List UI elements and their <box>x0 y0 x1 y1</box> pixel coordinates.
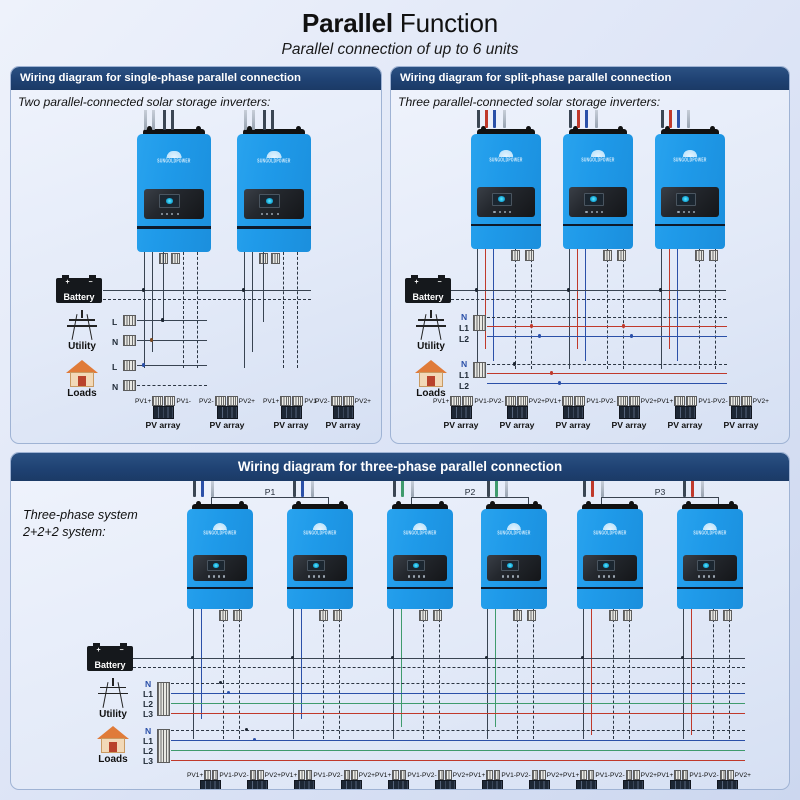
pv-array-label: PV array <box>433 420 489 430</box>
inverter-terminal-stub <box>505 481 508 497</box>
terminal-block-utility-L <box>123 315 136 326</box>
battery-source: +− Battery <box>405 278 457 303</box>
inverter-lcd-panel <box>683 555 737 581</box>
dashed-riser <box>713 609 714 739</box>
pv-panel-icon <box>153 406 174 419</box>
pv-terminal-label-positive: PV2+ <box>239 398 255 405</box>
inverter-buttons[interactable] <box>677 211 700 213</box>
battery-polarity: +− <box>87 647 133 654</box>
inverter-buttons[interactable] <box>408 575 430 577</box>
phase-group-bracket-P1: P1 <box>211 497 329 504</box>
inverter-terminal-stub <box>583 481 586 497</box>
pv-terminal-row: PV2- PV2+ <box>713 396 769 406</box>
pv-terminal-label-negative: PV1- <box>501 772 516 779</box>
wire-vertical <box>661 249 662 369</box>
inverter-terminal-stub <box>477 110 480 128</box>
pv-array-label: PV array <box>545 420 601 430</box>
inverter-bottom-band <box>287 587 353 589</box>
wire-vertical-L2 <box>585 249 586 361</box>
pv-terminal-row: PV1+PV1- <box>563 770 610 780</box>
inverter-buttons[interactable] <box>585 211 608 213</box>
phase-group-bracket-P2: P2 <box>411 497 529 504</box>
pv-terminal-row: PV2-PV2+ <box>516 770 563 780</box>
panel-three-phase: Wiring diagram for three-phase parallel … <box>10 452 790 790</box>
inverter-terminal-stub <box>601 481 604 497</box>
loads-L2-wire <box>487 383 727 384</box>
inverter-buttons[interactable] <box>261 213 285 215</box>
phase-label-loads-N: N <box>461 360 467 369</box>
inverter-terminal-stub <box>687 110 690 128</box>
door-shape <box>78 376 86 386</box>
panel-split-phase-caption: Three parallel-connected solar storage i… <box>391 90 789 110</box>
terminal-block <box>723 610 732 621</box>
phase-label-loads-L1: L1 <box>143 737 153 746</box>
pv-array-group-12: PV2-PV2+PV array <box>704 770 751 790</box>
pv-panel-icon <box>482 780 503 790</box>
terminal-block <box>603 250 612 261</box>
inverter-brand: SUNGOLDPOWER <box>587 530 633 536</box>
terminal-block <box>617 250 626 261</box>
inverter-logo: SUNGOLDPOWER <box>687 523 733 535</box>
dashed-riser <box>323 609 324 739</box>
pv-terminal-label-positive: PV1+ <box>657 398 673 405</box>
pv-terminal-label-positive: PV1+ <box>135 398 151 405</box>
pv-terminal-label-negative: PV2- <box>422 772 437 779</box>
inverter-terminal-stub <box>411 481 414 497</box>
pv-terminal-block <box>351 770 358 780</box>
wire-vertical <box>569 249 570 369</box>
inverter-terminal-stub <box>301 481 304 497</box>
inverter-terminal-stub <box>171 110 174 130</box>
pv-terminal-block <box>250 770 257 780</box>
inverter-2: SUNGOLDPOWER <box>237 134 311 252</box>
inverter-terminal-stub <box>152 110 155 130</box>
terminal-block <box>333 610 342 621</box>
pv-terminal-row: PV2-PV2+ <box>422 770 469 780</box>
phase-label-utility-L: L <box>112 318 117 327</box>
inverter-logo: SUNGOLDPOWER <box>297 523 343 535</box>
utility-label: Utility <box>87 709 139 720</box>
pv-terminal-block <box>462 396 473 406</box>
utility-source: Utility <box>87 678 139 720</box>
battery-icon: +− Battery <box>87 646 133 671</box>
house-icon <box>415 360 447 387</box>
sun-arc-icon <box>266 151 282 158</box>
inverter-lcd-panel <box>144 189 205 220</box>
dashed-riser <box>223 609 224 739</box>
loads-L1-wire <box>171 740 745 741</box>
panel-split-phase: Wiring diagram for split-phase parallel … <box>390 66 790 444</box>
panel-single-phase: Wiring diagram for single-phase parallel… <box>10 66 382 444</box>
pv-panel-icon <box>388 780 409 790</box>
pv-array-group-10: PV2-PV2+PV array <box>610 770 657 790</box>
wire-vertical <box>583 609 584 739</box>
pv-terminal-label-negative: PV2- <box>315 398 330 405</box>
pv-array-label: PV array <box>131 420 195 430</box>
battery-bus-negative <box>451 299 726 300</box>
wire-vertical <box>193 609 194 739</box>
terminal-block <box>319 610 328 621</box>
pv-panel-icon <box>619 406 640 419</box>
pv-terminal-label-negative: PV2- <box>610 772 625 779</box>
phase-label-utility-N: N <box>112 338 118 347</box>
inverter-1: SUNGOLDPOWER <box>187 509 253 609</box>
inverter-screen <box>307 560 325 571</box>
inverter-brand: SUNGOLDPOWER <box>491 530 537 536</box>
inverter-bottom-band <box>187 587 253 589</box>
pv-terminal-row: PV2- PV2+ <box>195 396 259 406</box>
inverter-brand: SUNGOLDPOWER <box>666 157 715 163</box>
inverter-logo: SUNGOLDPOWER <box>197 523 243 535</box>
pv-terminal-row: PV2- PV2+ <box>601 396 657 406</box>
phase-label-utility-L2: L2 <box>143 700 153 709</box>
inverter-screen <box>697 560 715 571</box>
inverter-lcd-panel <box>393 555 447 581</box>
phase-label-utility-L2: L2 <box>459 335 469 344</box>
pv-terminal-block <box>617 396 628 406</box>
pv-terminal-label-negative: PV2- <box>489 398 504 405</box>
phase-label-loads-L2: L2 <box>143 747 153 756</box>
pv-panel-icon <box>217 406 238 419</box>
pv-terminal-block <box>588 770 595 780</box>
dashed-riser <box>439 609 440 739</box>
pv-terminal-block <box>280 396 291 406</box>
pv-terminal-block <box>204 770 211 780</box>
inverter-buttons[interactable] <box>161 213 185 215</box>
pv-terminal-label-positive: PV2+ <box>735 772 751 779</box>
wire-vertical <box>683 609 684 739</box>
pv-array-group-4: PV2- PV2+ PV array <box>311 396 375 430</box>
pv-terminal-block <box>298 770 305 780</box>
wire-vertical <box>144 252 145 368</box>
inverter-bottom-band <box>237 226 311 228</box>
pv-panel-icon <box>507 406 528 419</box>
inverter-terminal-stub <box>701 481 704 497</box>
pv-terminal-block <box>741 396 752 406</box>
pv-terminal-label-positive: PV2+ <box>641 772 657 779</box>
inverter-5: SUNGOLDPOWER <box>577 509 643 609</box>
inverter-bottom-band <box>481 587 547 589</box>
inverter-buttons[interactable] <box>493 211 516 213</box>
wire-vertical <box>163 252 164 322</box>
inverter-buttons[interactable] <box>308 575 330 577</box>
terminal-block <box>695 250 704 261</box>
pv-array-group-2: PV2- PV2+ PV array <box>489 396 545 430</box>
phase-group-bracket-P3: P3 <box>601 497 719 504</box>
dashed-riser <box>729 609 730 739</box>
dashed-riser <box>183 252 184 368</box>
pv-terminal-block <box>674 396 685 406</box>
inverter-brand: SUNGOLDPOWER <box>687 530 733 536</box>
inverter-terminal-stub <box>485 110 488 128</box>
terminal-block <box>271 253 280 264</box>
loads-N-wire <box>137 385 207 386</box>
wire-vertical <box>293 609 294 739</box>
panel-single-phase-header: Wiring diagram for single-phase parallel… <box>11 67 381 90</box>
pv-terminal-block <box>331 396 342 406</box>
door-shape <box>427 376 435 386</box>
pv-terminal-block <box>682 770 689 780</box>
phase-label-loads-L2: L2 <box>459 382 469 391</box>
pv-terminal-block <box>580 770 587 780</box>
inverter-terminal-stub <box>263 110 266 130</box>
pv-array-label: PV array <box>311 420 375 430</box>
pv-terminal-block <box>343 396 354 406</box>
three-phase-stage: Three-phase system 2+2+2 system: P1 P2 P… <box>11 481 789 790</box>
utility-label: Utility <box>56 341 108 352</box>
pv-terminal-block <box>686 396 697 406</box>
inverter-bottom-band <box>655 224 725 226</box>
pv-terminal-block <box>539 770 546 780</box>
terminal-block <box>609 610 618 621</box>
inverter-1: SUNGOLDPOWER <box>471 134 541 249</box>
dashed-riser <box>423 609 424 739</box>
pv-panel-icon <box>247 780 268 790</box>
pv-terminal-row: PV1+ PV1- <box>657 396 713 406</box>
sun-arc-icon <box>166 151 182 158</box>
utility-L-wire <box>137 320 207 321</box>
parallel-function-infographic: Parallel Function Parallel connection of… <box>0 0 800 800</box>
pv-terminal-block <box>532 770 539 780</box>
pv-terminal-label-positive: PV1+ <box>657 772 673 779</box>
inverter-lcd-panel <box>661 187 718 217</box>
wire-vertical <box>152 252 153 352</box>
wall-shape <box>419 372 443 387</box>
terminal-block <box>233 610 242 621</box>
terminal-block-loads-L <box>123 360 136 371</box>
pv-terminal-block <box>292 396 303 406</box>
loads-L-wire <box>137 365 207 366</box>
wire-vertical-L2 <box>495 609 496 727</box>
inverter-terminal-stub <box>193 481 196 497</box>
utility-label: Utility <box>405 341 457 352</box>
inverter-lcd-panel <box>487 555 541 581</box>
battery-label: Battery <box>405 292 451 302</box>
inverter-lcd-panel <box>583 555 637 581</box>
pv-array-group-5: PV1+PV1-PV array <box>375 770 422 790</box>
battery-icon: +− Battery <box>56 278 102 303</box>
inverter-screen <box>584 193 604 206</box>
phase-label-utility-L1: L1 <box>143 690 153 699</box>
pv-array-label: PV array <box>601 420 657 430</box>
inverter-terminal-stub <box>163 110 166 130</box>
pv-terminal-block <box>494 770 501 780</box>
inverter-terminal-stub <box>244 110 247 130</box>
phase-label-utility-L1: L1 <box>459 324 469 333</box>
inverter-lcd-panel <box>569 187 626 217</box>
inverter-brand: SUNGOLDPOWER <box>197 530 243 536</box>
battery-label: Battery <box>87 660 133 670</box>
terminal-block <box>623 610 632 621</box>
phase-label-loads-N: N <box>112 383 118 392</box>
pv-terminal-row: PV1+PV1- <box>657 770 704 780</box>
loads-source: Loads <box>56 360 108 399</box>
terminal-block-loads-N <box>123 380 136 391</box>
pv-terminal-block <box>674 770 681 780</box>
terminal-block-loads <box>473 362 486 378</box>
battery-source: +− Battery <box>56 278 108 303</box>
pv-panel-icon <box>675 406 696 419</box>
inverter-terminal-stub <box>691 481 694 497</box>
page-title: Parallel Function <box>0 0 800 39</box>
utility-tower-icon <box>65 310 99 340</box>
loads-N-wire <box>487 364 727 365</box>
battery-label: Battery <box>56 292 102 302</box>
pv-terminal-block <box>626 770 633 780</box>
pv-array-label: PV array <box>489 420 545 430</box>
three-phase-caption-line2: 2+2+2 system: <box>23 524 138 541</box>
pv-terminal-label-negative: PV1- <box>219 772 234 779</box>
pv-panel-icon <box>623 780 644 790</box>
pv-panel-icon <box>670 780 691 790</box>
wall-shape <box>101 738 125 753</box>
dashed-riser <box>533 609 534 739</box>
pv-terminal-label-negative: PV1- <box>407 772 422 779</box>
panel-single-phase-caption: Two parallel-connected solar storage inv… <box>11 90 381 110</box>
inverter-logo: SUNGOLDPOWER <box>587 523 633 535</box>
loads-L2-wire <box>171 750 745 751</box>
inverter-terminal-stub <box>591 481 594 497</box>
pv-terminal-label-positive: PV2+ <box>355 398 371 405</box>
dashed-riser <box>297 252 298 368</box>
inverter-screen <box>597 560 615 571</box>
utility-L1-wire <box>171 693 745 694</box>
dashed-riser <box>699 249 700 369</box>
pv-terminal-label-positive: PV2+ <box>265 772 281 779</box>
pv-terminal-row: PV1+PV1- <box>375 770 422 780</box>
inverter-buttons[interactable] <box>208 575 230 577</box>
inverter-logo: SUNGOLDPOWER <box>248 151 300 163</box>
phase-label-loads-N: N <box>145 727 151 736</box>
inverter-1: SUNGOLDPOWER <box>137 134 211 252</box>
pv-terminal-block <box>517 396 528 406</box>
loads-label: Loads <box>87 754 139 765</box>
three-phase-caption: Three-phase system 2+2+2 system: <box>23 507 138 541</box>
inverter-screen <box>492 193 512 206</box>
pv-terminal-label-positive: PV1+ <box>469 772 485 779</box>
pv-terminal-label-positive: PV1+ <box>187 772 203 779</box>
loads-source: Loads <box>87 726 139 765</box>
pv-terminal-label-positive: PV1+ <box>433 398 449 405</box>
inverter-terminal-stub <box>144 110 147 130</box>
pv-terminal-label-negative: PV1- <box>313 772 328 779</box>
inverter-4: SUNGOLDPOWER <box>481 509 547 609</box>
pv-terminal-block <box>306 770 313 780</box>
terminal-block-utility <box>157 682 170 716</box>
wire-vertical <box>244 252 245 368</box>
pv-terminal-label-positive: PV2+ <box>641 398 657 405</box>
pv-terminal-label-negative: PV1- <box>176 398 191 405</box>
inverter-terminal-stub <box>585 110 588 128</box>
terminal-block-utility <box>473 315 486 331</box>
pv-terminal-block <box>215 396 226 406</box>
inverter-terminal-stub <box>211 481 214 497</box>
dashed-riser <box>515 249 516 369</box>
pv-array-group-8: PV2-PV2+PV array <box>516 770 563 790</box>
inverter-brand: SUNGOLDPOWER <box>248 158 300 164</box>
pv-array-group-6: PV2-PV2+PV array <box>422 770 469 790</box>
pv-array-group-4: PV2-PV2+PV array <box>328 770 375 790</box>
pv-terminal-label-negative: PV2- <box>234 772 249 779</box>
phase-label-utility-N: N <box>461 313 467 322</box>
pv-terminal-label-negative: PV2- <box>516 772 531 779</box>
pv-panel-icon <box>717 780 738 790</box>
pv-terminal-label-positive: PV1+ <box>563 772 579 779</box>
terminal-block-utility-N <box>123 335 136 346</box>
inverter-terminal-stub <box>271 110 274 130</box>
pv-terminal-label-positive: PV2+ <box>359 772 375 779</box>
wall-shape <box>70 372 94 387</box>
pv-terminal-label-negative: PV2- <box>601 398 616 405</box>
pv-terminal-label-negative: PV2- <box>713 398 728 405</box>
inverter-brand: SUNGOLDPOWER <box>297 530 343 536</box>
phase-label-utility-L3: L3 <box>143 710 153 719</box>
inverter-terminal-stub <box>669 110 672 128</box>
wire-vertical-L2 <box>493 249 494 361</box>
inverter-lcd-panel <box>293 555 347 581</box>
utility-L3-wire <box>171 713 745 714</box>
pv-array-group-6: PV2- PV2+ PV array <box>713 396 769 430</box>
inverter-terminal-stub <box>487 481 490 497</box>
loads-source: Loads <box>405 360 457 399</box>
phase-label-utility-N: N <box>145 680 151 689</box>
pv-array-group-1: PV1+ PV1- PV array <box>433 396 489 430</box>
phase-group-label-P1: P1 <box>262 487 279 497</box>
inverter-bottom-band <box>577 587 643 589</box>
pv-terminal-label-negative: PV1- <box>474 398 489 405</box>
pv-array-group-9: PV1+PV1-PV array <box>563 770 610 790</box>
pv-terminal-label-negative: PV2- <box>328 772 343 779</box>
utility-N-wire <box>137 340 207 341</box>
pv-terminal-row: PV1+PV1- <box>187 770 234 780</box>
pv-terminal-row: PV1+PV1- <box>281 770 328 780</box>
pv-panel-icon <box>529 780 550 790</box>
pv-terminal-block <box>450 396 461 406</box>
inverter-lcd-panel <box>193 555 247 581</box>
inverter-bottom-band <box>137 226 211 228</box>
pv-terminal-label-negative: PV1- <box>586 398 601 405</box>
pv-array-group-2: PV2- PV2+ PV array <box>195 396 259 430</box>
inverter-terminal-stub <box>201 481 204 497</box>
utility-tower-icon <box>96 678 130 708</box>
pv-terminal-row: PV1+PV1- <box>469 770 516 780</box>
pv-terminal-block <box>164 396 175 406</box>
inverter-buttons[interactable] <box>598 575 620 577</box>
inverter-buttons[interactable] <box>698 575 720 577</box>
inverter-buttons[interactable] <box>502 575 524 577</box>
utility-source: Utility <box>56 310 108 352</box>
inverter-screen <box>501 560 519 571</box>
phase-label-loads-L1: L1 <box>459 371 469 380</box>
inverter-bottom-band <box>471 224 541 226</box>
pv-panel-icon <box>451 406 472 419</box>
inverter-logo: SUNGOLDPOWER <box>666 150 715 162</box>
dashed-riser <box>629 609 630 739</box>
inverter-brand: SUNGOLDPOWER <box>397 530 443 536</box>
inverter-logo: SUNGOLDPOWER <box>574 150 623 162</box>
pv-terminal-block <box>562 396 573 406</box>
dashed-riser <box>339 609 340 739</box>
pv-terminal-block <box>633 770 640 780</box>
inverter-brand: SUNGOLDPOWER <box>148 158 200 164</box>
pv-terminal-block <box>400 770 407 780</box>
terminal-block <box>433 610 442 621</box>
inverter-logo: SUNGOLDPOWER <box>482 150 531 162</box>
wire-vertical <box>393 609 394 739</box>
utility-tower-icon <box>414 310 448 340</box>
pv-array-group-7: PV1+PV1-PV array <box>469 770 516 790</box>
wire-vertical <box>252 252 253 352</box>
